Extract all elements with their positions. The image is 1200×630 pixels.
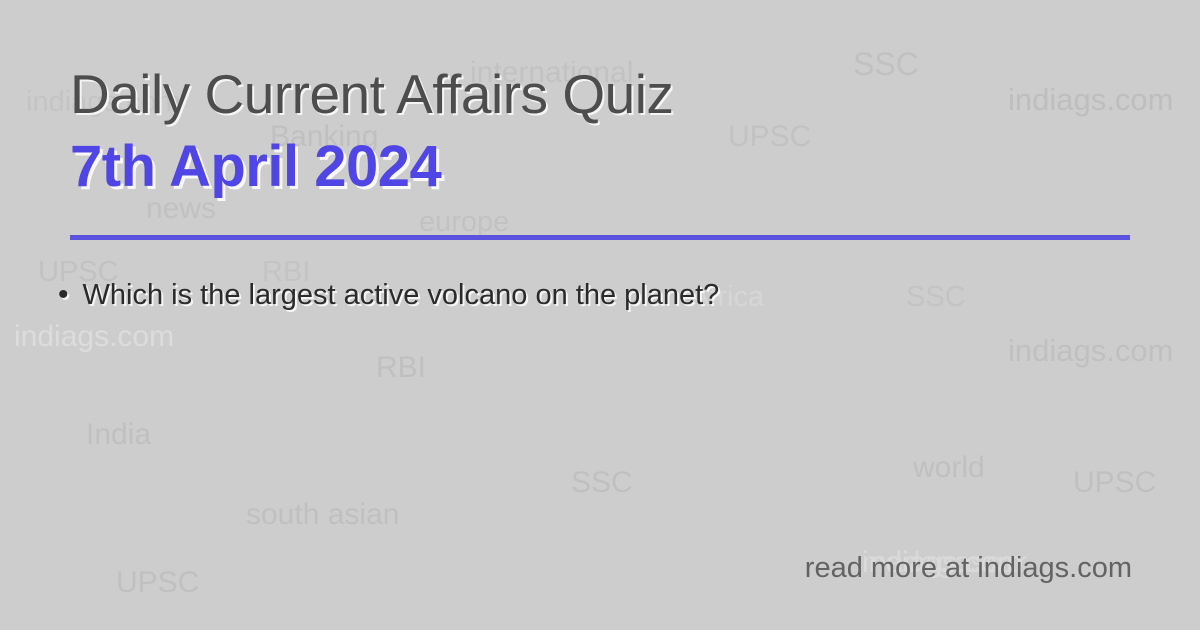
poster-date: 7th April 2024 xyxy=(70,133,441,200)
poster-content: Daily Current Affairs Quiz 7th April 202… xyxy=(0,0,1200,630)
question-list: • Which is the largest active volcano on… xyxy=(58,275,1148,315)
list-item: • Which is the largest active volcano on… xyxy=(58,275,1148,315)
quiz-poster: internationalSSCindiags.comindiags.comBa… xyxy=(0,0,1200,630)
question-text: Which is the largest active volcano on t… xyxy=(83,275,1148,315)
page-title: Daily Current Affairs Quiz xyxy=(70,62,673,126)
footer-attribution: read more at indiags.com xyxy=(805,552,1132,585)
bullet-icon: • xyxy=(58,275,69,315)
divider-rule xyxy=(70,235,1130,240)
